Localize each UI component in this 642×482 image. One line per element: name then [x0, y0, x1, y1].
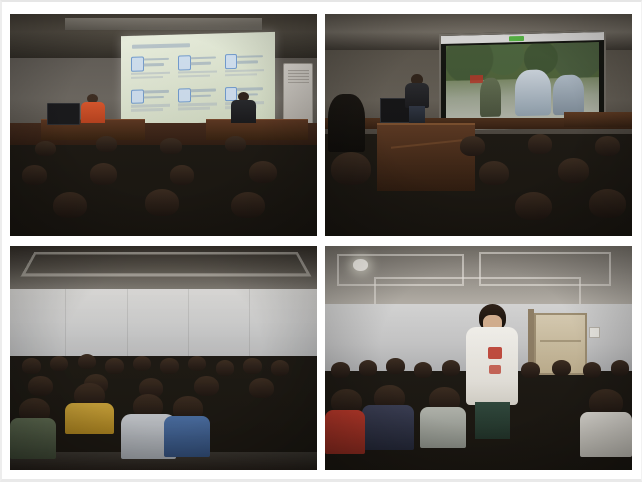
slide-card	[177, 53, 218, 84]
student-asking-question	[466, 304, 518, 438]
audience-head	[78, 354, 96, 370]
audience-head	[558, 158, 589, 182]
audience-head	[225, 136, 246, 152]
audience-head	[515, 192, 552, 221]
audience-head	[53, 192, 87, 219]
collage-grid: Speaker at podium with projected present…	[10, 14, 632, 470]
audience-head	[170, 165, 195, 185]
light-switch[interactable]	[589, 327, 600, 338]
ceiling-light	[353, 259, 368, 270]
video-soldier	[553, 74, 584, 115]
video-soldier	[479, 77, 500, 116]
audience-head	[22, 165, 47, 185]
video-progress-indicator	[509, 35, 524, 41]
side-table	[564, 112, 632, 128]
audience-head	[231, 192, 265, 219]
wall	[10, 289, 317, 356]
podium-desk-right	[206, 119, 307, 140]
audience-head	[460, 136, 485, 156]
slide-title-bar	[131, 43, 189, 49]
ceiling-coffer	[21, 251, 311, 275]
photo-panel-bottom-left[interactable]: Students seated in green auditorium chai…	[10, 246, 317, 470]
audience-head	[331, 152, 371, 185]
video-soldier	[514, 69, 551, 116]
foreground-attendee	[328, 94, 365, 152]
presenter-black-shirt	[405, 74, 430, 123]
speaker-orange-shirt	[81, 94, 106, 123]
slide-card	[130, 54, 171, 85]
audience-head	[595, 136, 620, 156]
slide-card	[223, 52, 264, 83]
audience-head	[479, 161, 510, 185]
ceiling	[325, 246, 632, 306]
host-black-shirt	[231, 92, 256, 123]
audience-head	[589, 189, 626, 218]
slide-card	[177, 85, 218, 116]
video-red-banner	[470, 75, 482, 83]
computer-monitor	[47, 103, 80, 125]
audience-head	[386, 358, 404, 374]
video-frame	[445, 42, 598, 120]
photo-panel-top-left[interactable]: Speaker at podium with projected present…	[10, 14, 317, 236]
audience-row-front	[10, 425, 317, 470]
ceiling	[10, 246, 317, 291]
photo-collage-page: Speaker at podium with projected present…	[0, 0, 642, 482]
slide-card	[130, 87, 171, 118]
air-conditioner-unit	[283, 63, 313, 125]
ceiling-band	[65, 18, 261, 29]
photo-panel-top-right[interactable]: Presenter standing beside projection scr…	[325, 14, 632, 236]
audience-head	[35, 141, 56, 157]
audience-head	[160, 138, 181, 154]
audience-head	[90, 163, 118, 185]
audience-head	[249, 161, 277, 183]
audience-head	[96, 136, 117, 152]
audience-head	[528, 134, 553, 154]
photo-panel-bottom-right[interactable]: Student standing in white hoodie asking …	[325, 246, 632, 470]
audience-row-front	[325, 425, 632, 470]
audience-head	[145, 189, 179, 216]
